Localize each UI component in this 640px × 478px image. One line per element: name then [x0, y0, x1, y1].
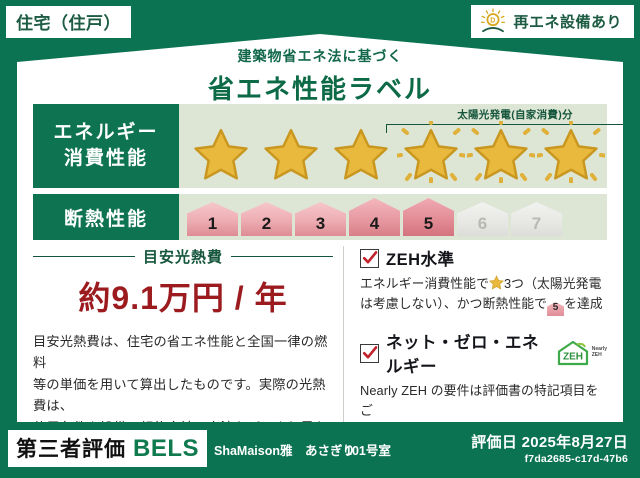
zeh-logo-sub-line2: ZEH: [592, 352, 602, 358]
bels-mark-label: BELS: [133, 435, 199, 463]
zeh-standard-star-count: 3つ（太陽光発電: [504, 276, 602, 291]
zeh-logo-icon: ZEH: [556, 340, 590, 366]
zeh-logo-subtext: Nearly ZEH: [592, 347, 607, 359]
insulation-level-2: 2: [241, 202, 292, 236]
svg-text:ZEH: ZEH: [563, 352, 583, 363]
zeh-standard-head: ZEH水準: [360, 246, 607, 270]
heading-rule-right: [231, 256, 333, 258]
renewable-equipment-badge: D 再エネ設備あり: [471, 5, 634, 38]
utility-cost-value: 約9.1万円 / 年: [33, 273, 333, 319]
net-zero-head: ネット・ゼロ・エネルギー ZEH Nearly ZEH: [360, 329, 607, 377]
energy-star: [257, 121, 325, 183]
insulation-level-6: 6: [457, 202, 508, 236]
star-icon: [403, 127, 459, 181]
energy-star: [187, 121, 255, 183]
bels-plate: 第三者評価 BELS: [8, 430, 207, 467]
inline-insulation-badge: 5: [547, 302, 564, 316]
net-zero-checkbox[interactable]: [360, 344, 379, 363]
zeh-standard-body-c: を達成: [564, 296, 603, 311]
insulation-label-text: 断熱性能: [64, 204, 148, 231]
cost-note-line1: 目安光熱費は、住宅の省エネ性能と全国一律の燃料: [33, 331, 333, 374]
insulation-level-5: 5: [403, 198, 454, 236]
label-subtitle: 建築物省エネ法に基づく: [17, 46, 623, 66]
evaluation-info: 評価日 2025年8月27日 f7da2685-c17d-47b6: [471, 431, 628, 465]
energy-label-line1: エネルギー: [53, 120, 158, 146]
zeh-standard-title: ZEH水準: [386, 246, 455, 270]
sun-icon: D: [479, 8, 507, 34]
housing-type-label: 住宅（住戸）: [16, 9, 121, 34]
check-icon: [362, 250, 378, 266]
check-icon: [362, 345, 378, 361]
title-block: 建築物省エネ法に基づく 省エネ性能ラベル: [17, 46, 623, 106]
building-name: ShaMaison雅 あさぎり: [214, 440, 355, 459]
energy-star: [327, 121, 395, 183]
performance-area: エネルギー 消費性能 太陽光発電(自家消費)分 断熱性能 12345: [33, 104, 607, 246]
cost-note-line2: 等の単価を用いて算出したものです。実際の光熱費は、: [33, 374, 333, 417]
energy-star-solar: [397, 121, 465, 183]
energy-performance-row: エネルギー 消費性能 太陽光発電(自家消費)分: [33, 104, 607, 188]
star-icon: [543, 127, 599, 181]
solar-bracket-label: 太陽光発電(自家消費)分: [386, 107, 640, 122]
energy-star-rating: [179, 121, 607, 183]
insulation-level-7: 7: [511, 202, 562, 236]
energy-performance-label: エネルギー 消費性能: [33, 104, 179, 188]
energy-rating-panel: 太陽光発電(自家消費)分: [179, 104, 607, 188]
footer: 第三者評価 BELS ShaMaison雅 あさぎり 101号室 評価日 202…: [0, 422, 640, 478]
star-icon: [473, 127, 529, 181]
net-zero-title: ネット・ゼロ・エネルギー: [386, 329, 549, 377]
zeh-standard-checkbox[interactable]: [360, 249, 379, 268]
energy-star-solar: [467, 121, 535, 183]
insulation-level-scale: 1234567: [179, 198, 562, 236]
insulation-performance-row: 断熱性能 1234567: [33, 194, 607, 240]
energy-star-solar: [537, 121, 605, 183]
housing-type-chip: 住宅（住戸）: [6, 6, 131, 38]
zeh-standard-block: ZEH水準 エネルギー消費性能で3つ（太陽光発電 は考慮しない）、かつ断熱性能で…: [360, 246, 607, 316]
heading-rule-left: [33, 256, 135, 258]
star-icon: [193, 127, 249, 181]
net-zero-body-line1: Nearly ZEH の要件は評価書の特記項目をご: [360, 381, 607, 421]
zeh-standard-body: エネルギー消費性能で3つ（太陽光発電 は考慮しない）、かつ断熱性能で5を達成: [360, 274, 607, 316]
zeh-standard-body-b: は考慮しない）、かつ断熱性能で: [360, 296, 547, 311]
inline-star-icon: [489, 275, 504, 290]
insulation-performance-label: 断熱性能: [33, 194, 179, 240]
energy-label-root: 住宅（住戸） D 再エネ設備あり 建築物省エ: [0, 0, 640, 478]
star-icon: [333, 127, 389, 181]
label-card: 建築物省エネ法に基づく 省エネ性能ラベル エネルギー 消費性能 太陽光発電(自家…: [17, 34, 623, 422]
svg-text:D: D: [491, 18, 497, 25]
star-icon: [263, 127, 319, 181]
insulation-level-3: 3: [295, 202, 346, 236]
energy-label-line2: 消費性能: [64, 146, 148, 172]
bels-prefix-label: 第三者評価: [16, 433, 126, 463]
utility-cost-heading: 目安光熱費: [33, 246, 333, 267]
insulation-level-4: 4: [349, 198, 400, 236]
utility-cost-heading-text: 目安光熱費: [143, 246, 223, 267]
page-title: 省エネ性能ラベル: [17, 69, 623, 106]
unit-number: 101号室: [345, 440, 391, 459]
zeh-standard-body-a: エネルギー消費性能で: [360, 276, 489, 291]
zeh-house-logo: ZEH Nearly ZEH: [556, 340, 607, 366]
evaluation-id: f7da2685-c17d-47b6: [471, 453, 628, 465]
insulation-rating-panel: 1234567: [179, 194, 607, 240]
renewable-badge-label: 再エネ設備あり: [513, 11, 622, 32]
insulation-level-1: 1: [187, 202, 238, 236]
evaluation-date: 評価日 2025年8月27日: [471, 431, 628, 452]
